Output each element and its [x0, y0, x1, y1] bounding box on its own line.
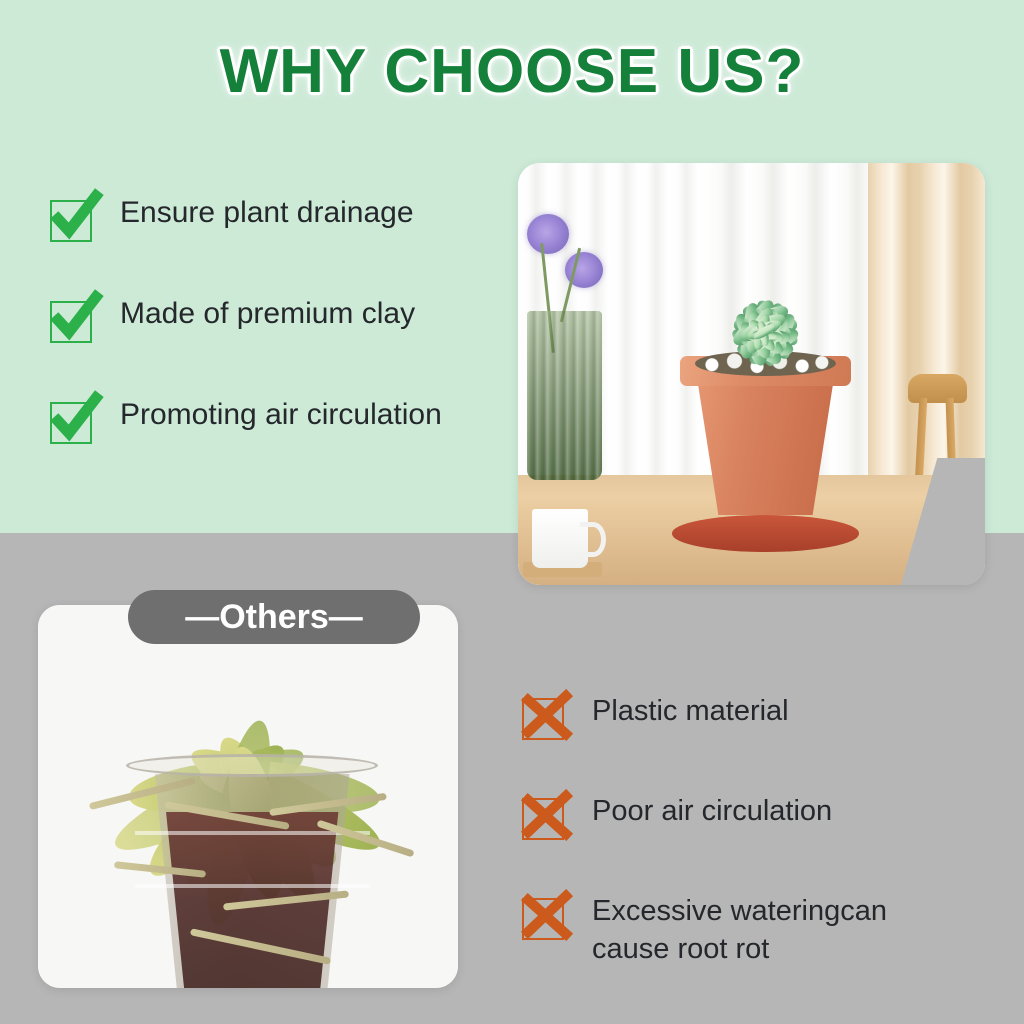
white-mug	[532, 509, 588, 568]
list-item: Ensure plant drainage	[48, 190, 508, 291]
list-item-label: Promoting air circulation	[98, 392, 442, 434]
others-product-photo	[38, 605, 458, 988]
list-item-label: Made of premium clay	[98, 291, 415, 333]
glass-vase	[527, 311, 602, 480]
list-item-label: Plastic material	[570, 688, 789, 730]
list-item: Made of premium clay	[48, 291, 508, 392]
list-item-label: Ensure plant drainage	[98, 190, 414, 232]
ours-feature-list: Ensure plant drainage Made of premium cl…	[48, 190, 508, 493]
ours-product-photo: —Ours—	[518, 163, 985, 585]
terracotta-pot-group	[672, 315, 859, 543]
list-item: Promoting air circulation	[48, 392, 508, 493]
list-item: Plastic material	[520, 688, 990, 788]
list-item-label: Poor air circulation	[570, 788, 832, 830]
check-icon	[48, 192, 98, 242]
others-badge: —Others—	[128, 590, 420, 644]
chair-leg-left	[915, 398, 928, 484]
ours-scene	[518, 163, 985, 585]
cross-icon	[520, 890, 570, 940]
others-feature-list: Plastic material Poor air circulation Ex…	[520, 688, 990, 988]
list-item: Excessive wateringcan cause root rot	[520, 888, 990, 988]
succulent-plant	[661, 274, 870, 406]
others-scene	[38, 605, 458, 988]
vase-ribbing	[527, 311, 602, 480]
chair-backrest	[908, 374, 966, 403]
list-item: Poor air circulation	[520, 788, 990, 888]
list-item-label: Excessive wateringcan cause root rot	[570, 888, 887, 968]
purple-thistle-flower-1	[527, 214, 569, 254]
page-title: WHY CHOOSE US?	[0, 36, 1024, 107]
cup-ring-lower	[135, 884, 370, 888]
cross-icon	[520, 790, 570, 840]
cross-icon	[520, 690, 570, 740]
check-icon	[48, 293, 98, 343]
check-icon	[48, 394, 98, 444]
drainage-saucer	[672, 515, 859, 551]
infographic-canvas: WHY CHOOSE US?	[0, 0, 1024, 1024]
